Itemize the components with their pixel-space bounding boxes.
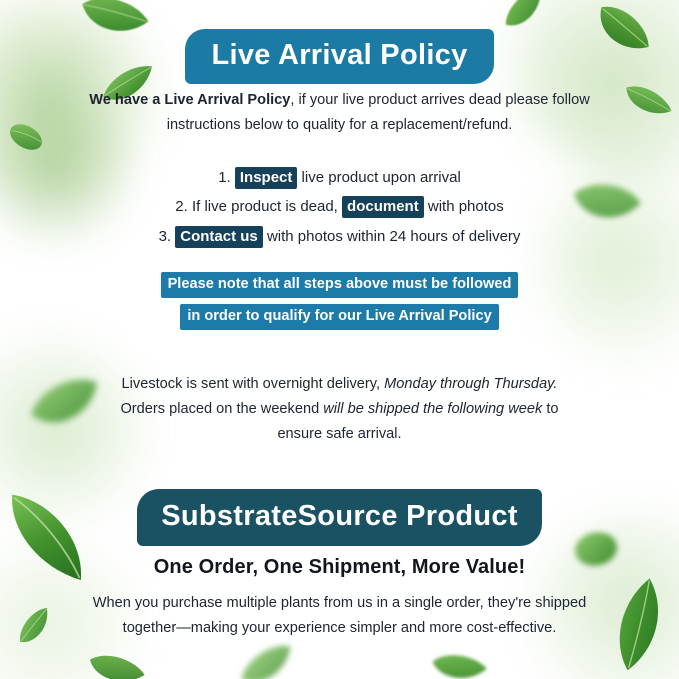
- intro-lead-text: We have a Live Arrival Policy: [89, 92, 290, 108]
- step-highlight-inspect: Inspect: [235, 167, 298, 189]
- policy-note-block: Please note that all steps above must be…: [0, 272, 679, 334]
- live-arrival-policy-banner: Live Arrival Policy: [185, 29, 493, 84]
- policy-note-line-1: Please note that all steps above must be…: [161, 272, 519, 298]
- step-after-text: with photos: [424, 198, 504, 215]
- list-item: 2. If live product is dead, document wit…: [40, 192, 639, 221]
- intro-paragraph: We have a Live Arrival Policy, if your l…: [80, 88, 599, 138]
- value-subheading: One Order, One Shipment, More Value!: [0, 556, 679, 579]
- step-highlight-document: document: [342, 196, 424, 218]
- shipping-line-2-italic: will be shipped the following week: [323, 401, 542, 417]
- step-highlight-contact-us: Contact us: [175, 226, 263, 248]
- shipping-schedule-paragraph: Livestock is sent with overnight deliver…: [100, 372, 579, 447]
- value-paragraph: When you purchase multiple plants from u…: [82, 591, 597, 641]
- step-number: 3.: [159, 228, 172, 245]
- value-body-line-1: When you purchase multiple plants from u…: [93, 595, 587, 611]
- steps-list: 1. Inspect live product upon arrival 2. …: [40, 163, 639, 251]
- content-layer: Live Arrival Policy We have a Live Arriv…: [0, 0, 679, 679]
- live-arrival-banner-row: Live Arrival Policy: [0, 29, 679, 84]
- step-number: 1.: [218, 169, 231, 186]
- step-before-text: If live product is dead,: [192, 198, 342, 215]
- shipping-line-2-plain: Orders placed on the weekend: [120, 401, 319, 417]
- list-item: 1. Inspect live product upon arrival: [40, 163, 639, 192]
- substrate-source-product-banner: SubstrateSource Product: [137, 489, 542, 546]
- shipping-line-1-italic: Monday through Thursday.: [384, 376, 557, 392]
- live-arrival-policy-infographic: Live Arrival Policy We have a Live Arriv…: [0, 0, 679, 679]
- substrate-source-banner-row: SubstrateSource Product: [0, 489, 679, 546]
- step-number: 2.: [175, 198, 188, 215]
- shipping-line-1-plain: Livestock is sent with overnight deliver…: [122, 376, 380, 392]
- policy-note-line-2: in order to qualify for our Live Arrival…: [180, 304, 498, 330]
- value-body-line-2: together—making your experience simpler …: [123, 620, 557, 636]
- step-after-text: live product upon arrival: [297, 169, 460, 186]
- list-item: 3. Contact us with photos within 24 hour…: [40, 222, 639, 251]
- step-after-text: with photos within 24 hours of delivery: [263, 228, 521, 245]
